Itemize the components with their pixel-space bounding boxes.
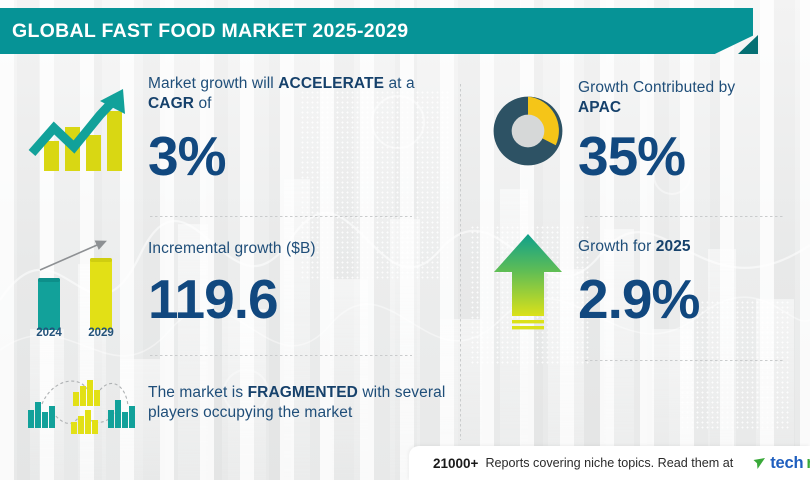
stat-cagr: Market growth will ACCELERATE at a CAGR … xyxy=(8,74,448,184)
stat-cagr-value: 3% xyxy=(148,129,448,184)
technavio-logo[interactable]: technavio xyxy=(752,454,810,473)
stat-incremental-growth-text: Incremental growth ($B) 119.6 xyxy=(148,239,448,326)
stat-growth-2025-label: Growth for 2025 xyxy=(578,237,808,257)
bar-label-2029: 2029 xyxy=(88,327,114,338)
stat-incremental-growth: 2024 2029 Incremental growth ($B) 119.6 xyxy=(8,228,448,338)
infographic-canvas: GLOBAL FAST FOOD MARKET 2025-2029 Market… xyxy=(0,0,810,480)
stat-fragmentation: The market is FRAGMENTED with several pl… xyxy=(8,368,448,438)
fragmented-market-icon xyxy=(8,368,148,438)
stat-growth-2025-text: Growth for 2025 2.9% xyxy=(578,237,808,326)
divider-right-1 xyxy=(585,216,785,217)
report-count: 21000+ xyxy=(433,456,478,471)
stat-cagr-label: Market growth will ACCELERATE at a CAGR … xyxy=(148,74,448,115)
divider-left-1 xyxy=(150,216,412,217)
footer-tagline: Reports covering niche topics. Read them… xyxy=(485,456,733,470)
stat-fragmentation-label: The market is FRAGMENTED with several pl… xyxy=(148,383,448,424)
stat-fragmentation-text: The market is FRAGMENTED with several pl… xyxy=(148,383,448,424)
stat-apac-contribution: Growth Contributed by APAC 35% xyxy=(478,78,808,184)
stat-apac-contribution-label: Growth Contributed by APAC xyxy=(578,78,808,119)
stat-apac-contribution-text: Growth Contributed by APAC 35% xyxy=(578,78,808,184)
footer-bar: 21000+ Reports covering niche topics. Re… xyxy=(409,446,810,480)
column-divider xyxy=(460,84,461,440)
logo-text-tech: tech xyxy=(770,454,803,473)
technavio-arrow-icon xyxy=(752,456,767,471)
page-title: GLOBAL FAST FOOD MARKET 2025-2029 xyxy=(0,20,408,43)
stat-incremental-growth-label: Incremental growth ($B) xyxy=(148,239,448,259)
donut-chart-icon xyxy=(478,88,578,174)
divider-left-2 xyxy=(150,355,412,356)
growth-chart-icon xyxy=(8,81,148,177)
stat-cagr-text: Market growth will ACCELERATE at a CAGR … xyxy=(148,74,448,184)
stat-growth-2025-value: 2.9% xyxy=(578,272,808,327)
stat-growth-2025: Growth for 2025 2.9% xyxy=(478,230,808,334)
divider-right-2 xyxy=(585,360,785,361)
bar-comparison-icon: 2024 2029 xyxy=(8,228,148,338)
up-arrow-icon xyxy=(478,230,578,334)
header-banner: GLOBAL FAST FOOD MARKET 2025-2029 xyxy=(0,8,753,54)
stat-incremental-growth-value: 119.6 xyxy=(148,272,448,327)
logo-text-navio: navio xyxy=(806,454,810,473)
bar-label-2024: 2024 xyxy=(36,327,62,338)
stat-apac-contribution-value: 35% xyxy=(578,129,808,184)
